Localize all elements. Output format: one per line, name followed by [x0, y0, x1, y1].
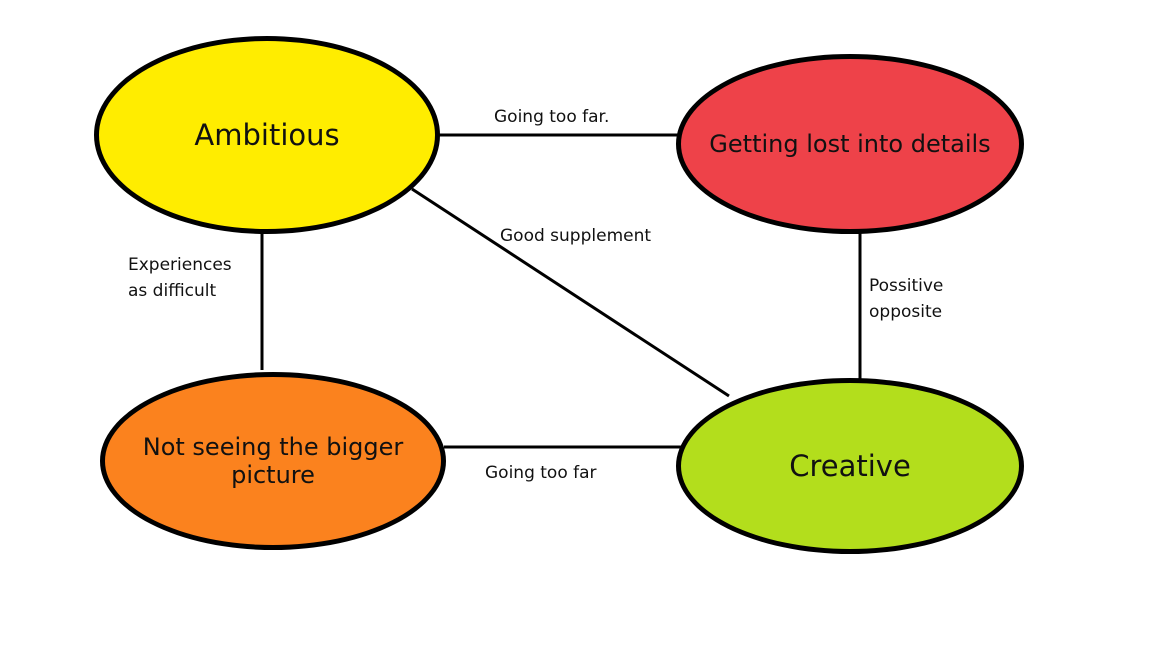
- node-getting-lost-into-details[interactable]: Getting lost into details: [676, 54, 1024, 234]
- node-ambitious-label: Ambitious: [184, 118, 349, 152]
- diagram-canvas: Ambitious Getting lost into details Not …: [0, 0, 1152, 648]
- node-ambitious[interactable]: Ambitious: [94, 36, 440, 234]
- node-creative[interactable]: Creative: [676, 378, 1024, 554]
- edge-label-details-creative: Possitive opposite: [869, 273, 943, 326]
- edge-label-bigger-creative: Going too far: [485, 460, 597, 486]
- node-creative-label: Creative: [779, 449, 921, 483]
- node-not-seeing-the-bigger-picture-label: Not seeing the bigger picture: [133, 433, 413, 490]
- edge-ambitious-creative: [412, 189, 729, 396]
- edge-label-ambitious-details: Going too far.: [494, 104, 609, 130]
- node-getting-lost-into-details-label: Getting lost into details: [699, 130, 1000, 158]
- edge-label-ambitious-bigger: Experiences as difficult: [128, 252, 232, 305]
- node-not-seeing-the-bigger-picture[interactable]: Not seeing the bigger picture: [100, 372, 446, 550]
- edge-label-ambitious-creative: Good supplement: [500, 223, 651, 249]
